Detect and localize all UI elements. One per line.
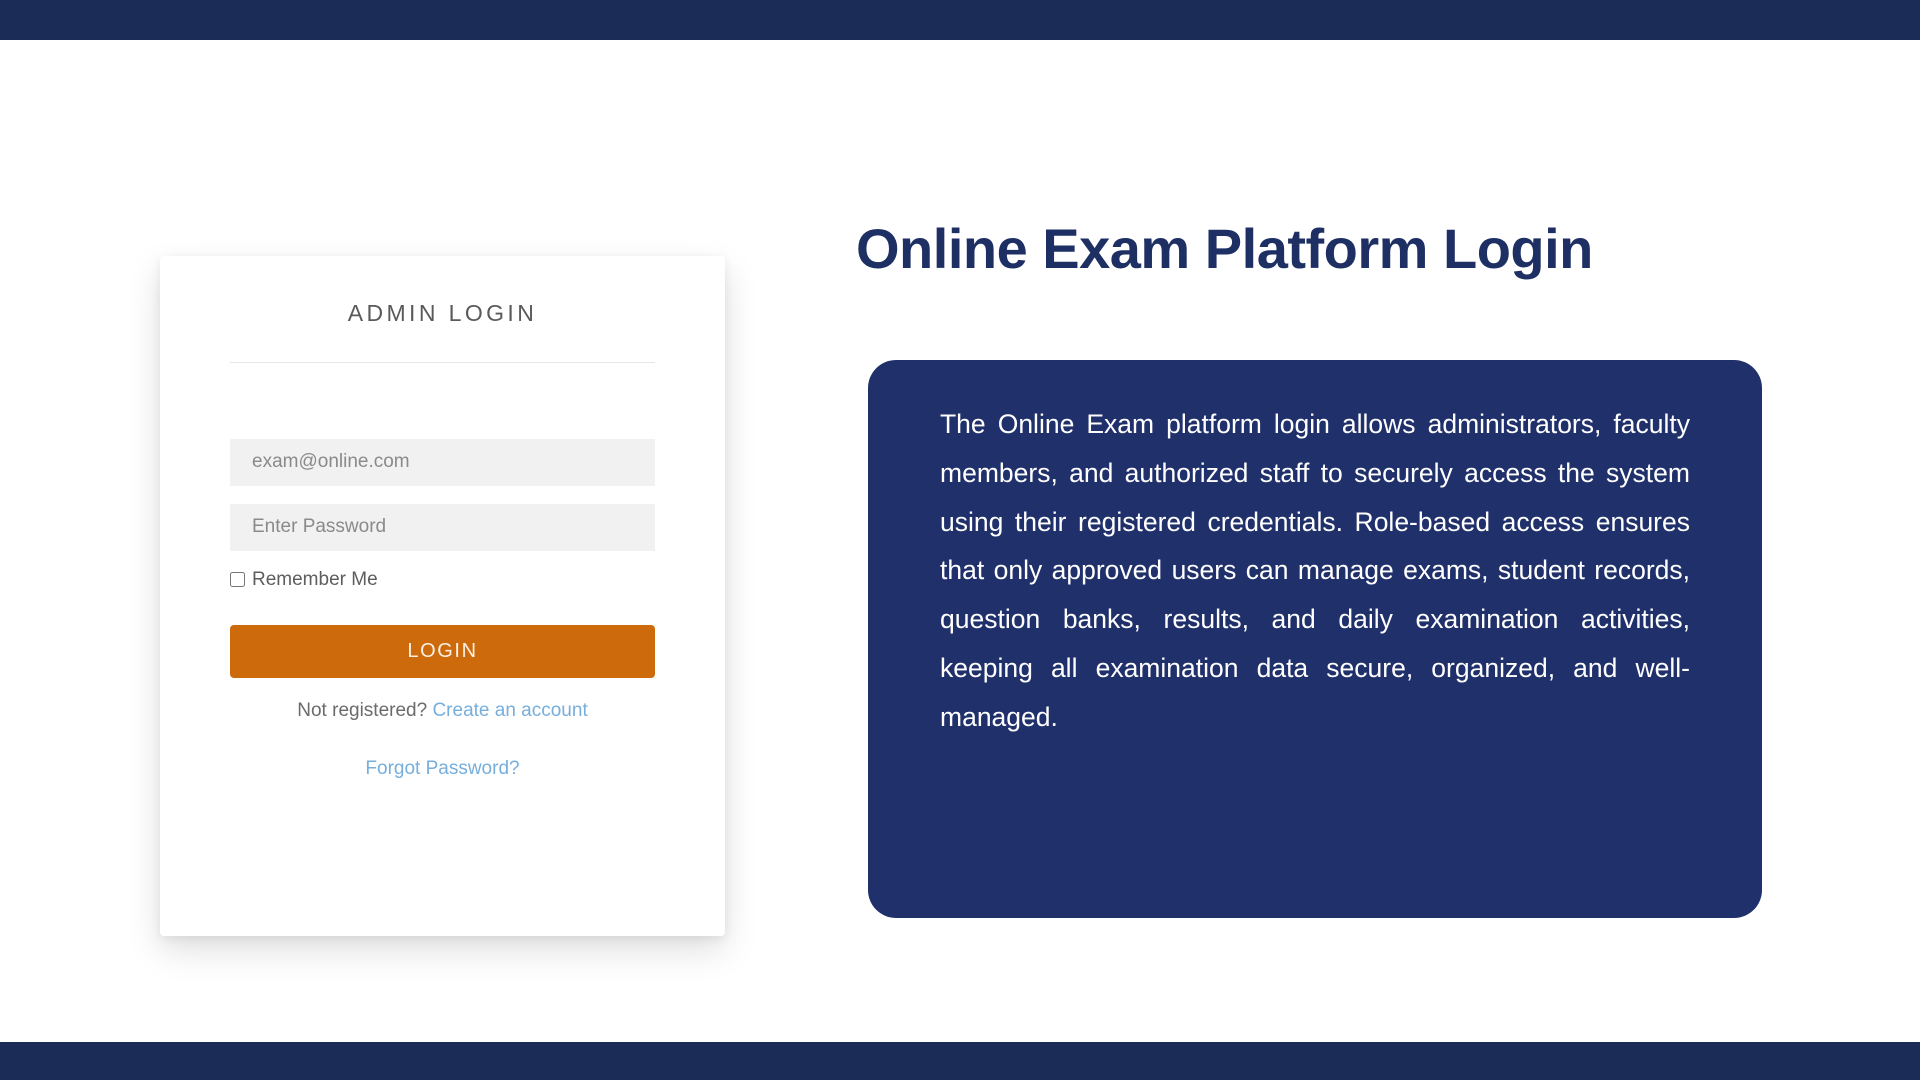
signup-prompt-text: Not registered? bbox=[297, 700, 427, 721]
remember-me-label: Remember Me bbox=[252, 570, 378, 589]
page-title: Online Exam Platform Login bbox=[856, 218, 1796, 280]
login-button[interactable]: LOGIN bbox=[230, 625, 655, 678]
create-account-link[interactable]: Create an account bbox=[432, 700, 587, 721]
card-title: ADMIN LOGIN bbox=[230, 300, 655, 328]
signup-row: Not registered? Create an account bbox=[230, 700, 655, 722]
info-panel-description: The Online Exam platform login allows ad… bbox=[940, 400, 1690, 741]
forgot-password-link[interactable]: Forgot Password? bbox=[365, 758, 519, 779]
bottom-navy-band bbox=[0, 1042, 1920, 1080]
password-input[interactable] bbox=[230, 504, 655, 551]
forgot-row: Forgot Password? bbox=[230, 758, 655, 780]
top-navy-band bbox=[0, 0, 1920, 40]
info-panel: The Online Exam platform login allows ad… bbox=[868, 360, 1762, 918]
remember-me-checkbox[interactable] bbox=[230, 572, 245, 587]
remember-me-row[interactable]: Remember Me bbox=[230, 569, 655, 591]
email-input[interactable] bbox=[230, 439, 655, 486]
login-page: ADMIN LOGIN Remember Me LOGIN Not regist… bbox=[0, 0, 1920, 1080]
admin-login-card: ADMIN LOGIN Remember Me LOGIN Not regist… bbox=[160, 256, 725, 936]
card-divider bbox=[230, 362, 655, 363]
